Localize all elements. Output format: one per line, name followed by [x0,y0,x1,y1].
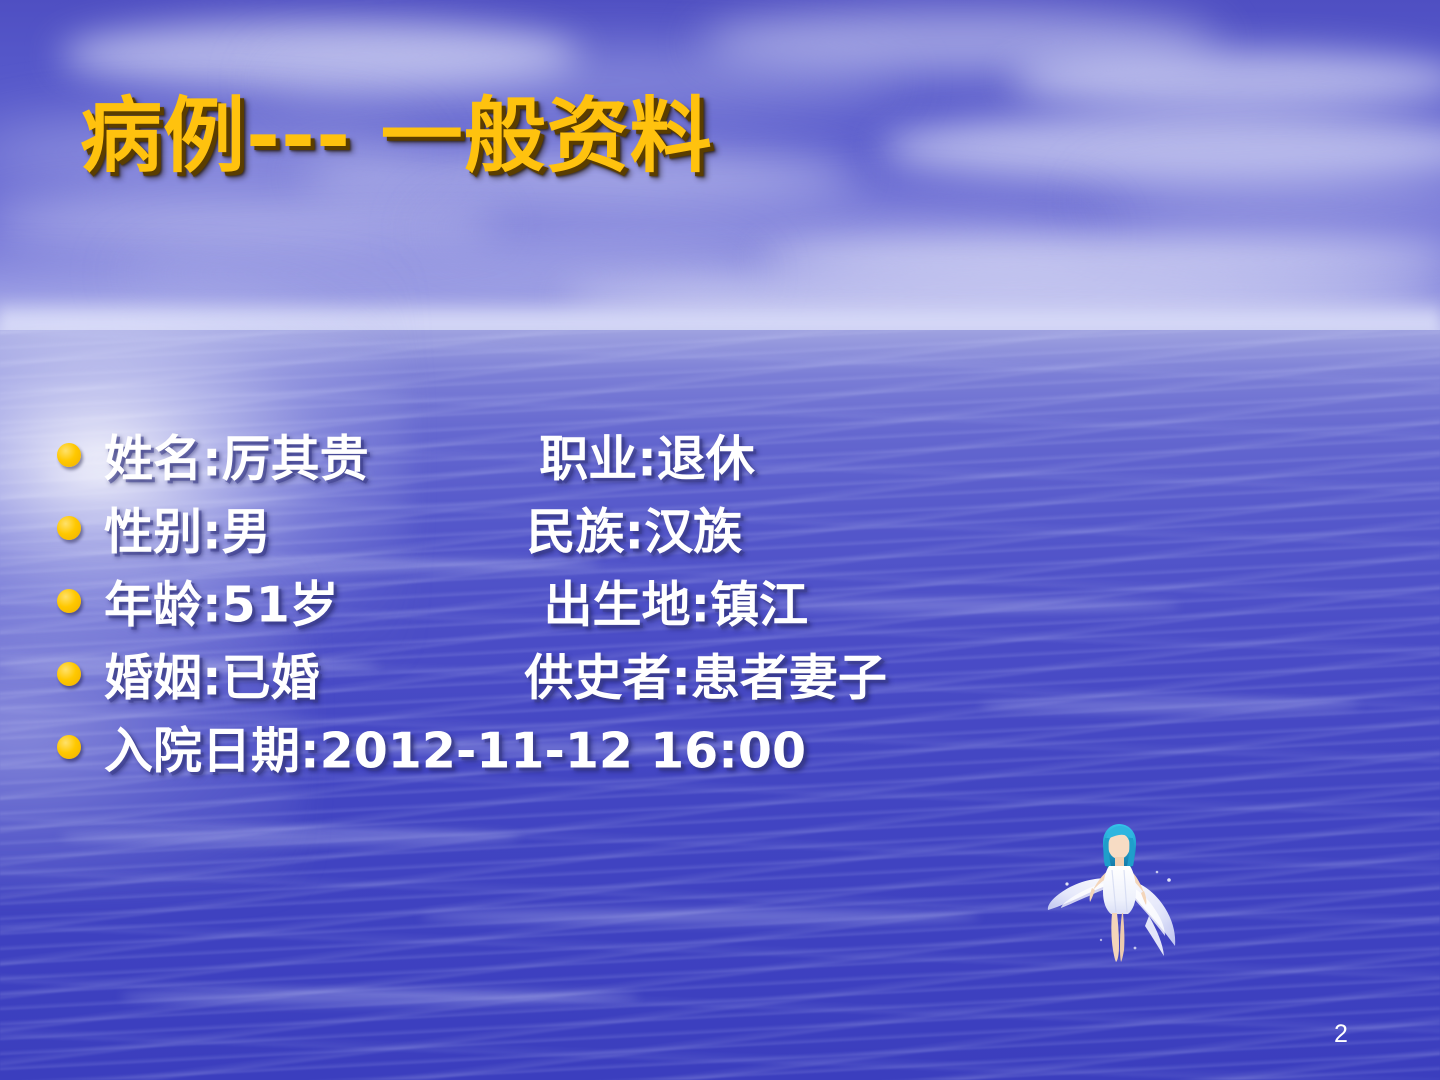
page-title: 病例--- 一般资料 [80,96,713,178]
list-item-text: 入院日期:2012-11-12 16:00 [104,711,806,782]
field-admission-date: 入院日期:2012-11-12 16:00 [104,722,806,779]
bullet-list: 姓名:厉其贵 职业:退休 性别:男 民族:汉族 年龄:51岁 出生地:镇江 婚姻… [0,418,1440,783]
field-marital-status: 婚姻:已婚 [104,649,320,706]
list-item: 姓名:厉其贵 职业:退休 [0,418,1440,491]
field-age: 年龄:51岁 [104,576,339,633]
list-item-text: 婚姻:已婚 供史者:患者妻子 [104,638,887,709]
wave-streak [120,990,640,1004]
field-name: 姓名:厉其贵 [104,430,369,487]
column-gap [271,503,527,560]
dress [1103,866,1136,914]
bullet-dot-icon [57,516,81,540]
bullet-dot-icon [57,735,81,759]
column-gap [339,576,544,633]
list-item: 婚姻:已婚 供史者:患者妻子 [0,637,1440,710]
list-item-text: 年龄:51岁 出生地:镇江 [104,565,808,636]
field-gender: 性别:男 [104,503,271,560]
field-ethnicity: 民族:汉族 [527,503,743,560]
field-birthplace: 出生地:镇江 [544,576,809,633]
list-item-text: 姓名:厉其贵 职业:退休 [104,419,755,490]
bullet-dot-icon [57,662,81,686]
presentation-slide: 病例--- 一般资料 姓名:厉其贵 职业:退休 性别:男 民族:汉族 年龄:51… [0,0,1440,1080]
wave-streak [420,910,980,923]
bullet-dot-icon [57,589,81,613]
field-occupation: 职业:退休 [539,430,755,487]
bullet-dot-icon [57,443,81,467]
list-item: 性别:男 民族:汉族 [0,491,1440,564]
page-number: 2 [1334,1020,1348,1049]
list-item: 年龄:51岁 出生地:镇江 [0,564,1440,637]
list-item: 入院日期:2012-11-12 16:00 [0,710,1440,783]
list-item-text: 性别:男 民族:汉族 [104,492,742,563]
leg-left [1111,913,1119,962]
column-gap [369,430,540,487]
angel-fairy-icon [1045,820,1195,970]
field-history-provider: 供史者:患者妻子 [524,649,887,706]
column-gap [320,649,525,706]
leg-right [1120,913,1124,962]
